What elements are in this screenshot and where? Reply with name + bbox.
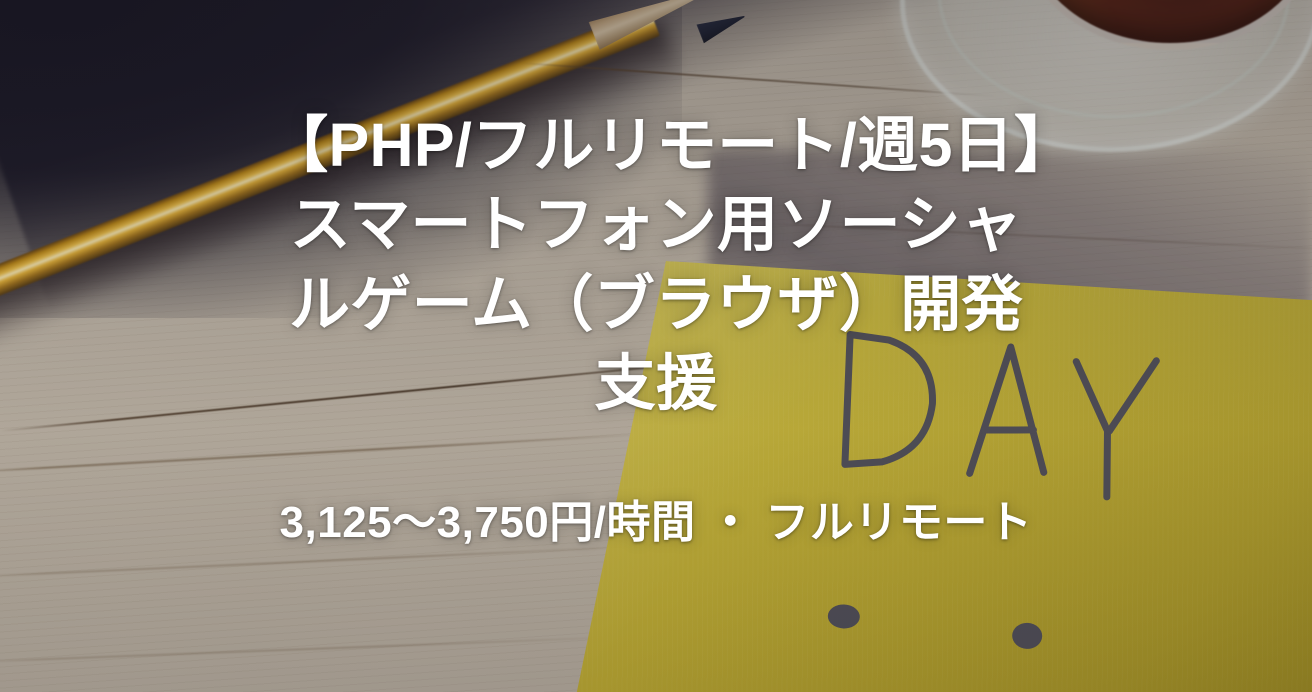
job-rate-and-workstyle: 3,125〜3,750円/時間 ・ フルリモート — [156, 495, 1156, 550]
job-title: 【PHP/フルリモート/週5日】スマートフォン用ソーシャルゲーム（ブラウザ）開発… — [261, 106, 1051, 423]
hero-text-container: 【PHP/フルリモート/週5日】スマートフォン用ソーシャルゲーム（ブラウザ）開発… — [0, 0, 1312, 692]
job-posting-hero-banner: 【PHP/フルリモート/週5日】スマートフォン用ソーシャルゲーム（ブラウザ）開発… — [0, 0, 1312, 692]
